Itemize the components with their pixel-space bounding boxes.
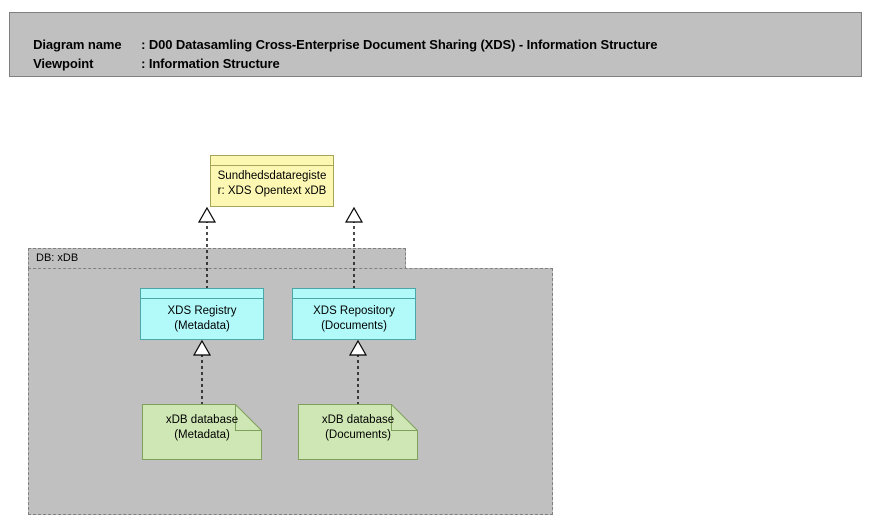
connector-xdb-metadata-to-registry: [191, 340, 213, 405]
connector-repository-to-sundhedsdataregister: [343, 207, 365, 289]
diagram-header-banner: Diagram name: D00 Datasamling Cross-Ente…: [9, 12, 862, 77]
connector-registry-to-sundhedsdataregister: [196, 207, 218, 289]
node-xds-registry[interactable]: XDS Registry (Metadata): [140, 288, 264, 340]
artifact-shape-icon: [298, 404, 418, 460]
node-label: Sundhedsdataregiste r: XDS Opentext xDB: [211, 166, 333, 206]
node-header-strip: [211, 156, 333, 166]
node-label-line1: XDS Registry: [167, 305, 236, 317]
node-xds-repository[interactable]: XDS Repository (Documents): [292, 288, 416, 340]
node-label-line1: Sundhedsdataregiste: [218, 170, 327, 182]
node-label-line1: XDS Repository: [313, 305, 395, 317]
node-header-strip: [293, 289, 415, 299]
node-label: XDS Repository (Documents): [293, 299, 415, 339]
group-body: [28, 268, 553, 515]
node-label: XDS Registry (Metadata): [141, 299, 263, 339]
viewpoint-line: Viewpoint: Information Structure: [19, 41, 280, 86]
node-xdb-database-documents[interactable]: xDB database (Documents): [298, 404, 418, 460]
node-sundhedsdataregister[interactable]: Sundhedsdataregiste r: XDS Opentext xDB: [210, 155, 334, 207]
viewpoint-label: Viewpoint: [33, 56, 141, 71]
connector-xdb-documents-to-repository: [347, 340, 369, 405]
node-label-line2: r: XDS Opentext xDB: [218, 185, 327, 197]
artifact-shape-icon: [142, 404, 262, 460]
group-label: DB: xDB: [36, 252, 78, 264]
viewpoint-separator: :: [141, 56, 145, 71]
viewpoint-value: Information Structure: [149, 56, 280, 71]
node-header-strip: [141, 289, 263, 299]
node-label-line2: (Documents): [321, 320, 387, 332]
node-label-line2: (Metadata): [174, 320, 230, 332]
node-xdb-database-metadata[interactable]: xDB database (Metadata): [142, 404, 262, 460]
group-db-xdb[interactable]: DB: xDB: [28, 248, 553, 515]
